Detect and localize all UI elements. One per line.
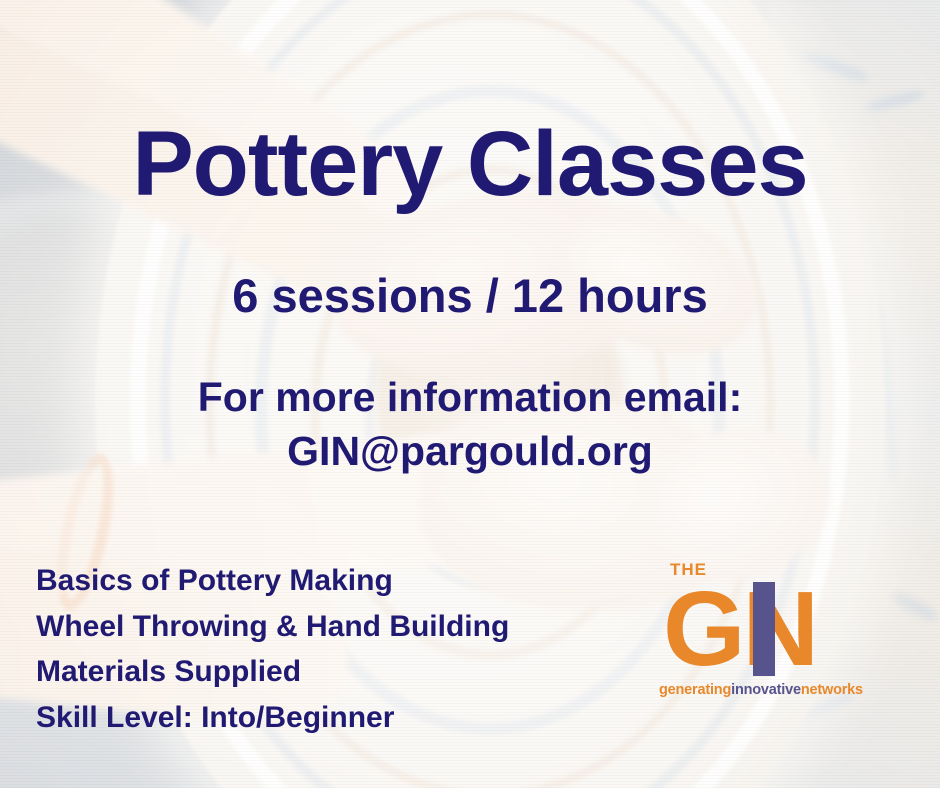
- logo-tagline: generatinginnovativenetworks: [659, 682, 863, 698]
- feature-list: Basics of Pottery Making Wheel Throwing …: [36, 558, 509, 740]
- contact-block: For more information email: GIN@pargould…: [0, 370, 940, 478]
- gin-logo: THE GN generatinginnovativenetworks: [655, 558, 865, 708]
- contact-label: For more information email:: [0, 370, 940, 424]
- list-item: Materials Supplied: [36, 649, 509, 695]
- list-item: Skill Level: Into/Beginner: [36, 695, 509, 741]
- logo-gn-mark: GN: [663, 580, 853, 678]
- logo-gn-letters: GN: [663, 580, 816, 678]
- logo-tagline-innovative: innovative: [731, 682, 801, 698]
- poster-content: Pottery Classes 6 sessions / 12 hours Fo…: [0, 0, 940, 788]
- sessions-duration-text: 6 sessions / 12 hours: [0, 270, 940, 322]
- list-item: Wheel Throwing & Hand Building: [36, 604, 509, 650]
- logo-tagline-networks: networks: [801, 682, 863, 698]
- logo-n-purple-stem: [753, 582, 775, 676]
- poster-canvas: Pottery Classes 6 sessions / 12 hours Fo…: [0, 0, 940, 788]
- contact-email-address[interactable]: GIN@pargould.org: [0, 424, 940, 478]
- list-item: Basics of Pottery Making: [36, 558, 509, 604]
- logo-tagline-generating: generating: [659, 682, 731, 698]
- page-title: Pottery Classes: [0, 118, 940, 210]
